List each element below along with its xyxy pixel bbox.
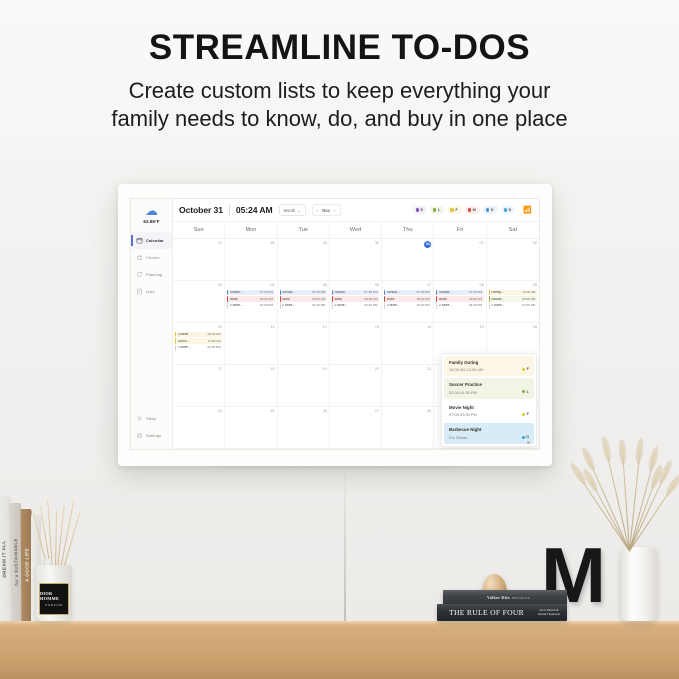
next-month-button[interactable]: ›	[334, 208, 336, 213]
member-color-dot	[450, 208, 453, 211]
event-detail-subtitle: 03:00-04:30 PM	[449, 390, 529, 395]
event-detail-subtitle: 07:00-09:00 PM	[449, 412, 529, 417]
pampas-plume	[635, 437, 645, 464]
calendar-event[interactable]: Family...10:00 AM	[489, 290, 537, 296]
event-time: 07:30 PM	[364, 291, 377, 294]
day-number: 16	[489, 325, 537, 329]
day-number: 25	[227, 409, 274, 413]
day-number: 12	[280, 325, 327, 329]
sidebar-item-planning[interactable]: Planning	[131, 266, 172, 283]
day-number: 17	[175, 367, 222, 371]
pampas-grass	[587, 443, 673, 551]
sidebar-label-calendar: Calendar	[146, 238, 164, 243]
calendar-day-cell[interactable]: 03	[173, 281, 225, 323]
calendar-event[interactable]: School...07:30 PM	[436, 290, 483, 296]
day-number: 20	[332, 367, 379, 371]
day-number: 02	[489, 241, 537, 245]
right-book-stack: Volker KitzBESTSELLER THE RULE OF FOUR I…	[437, 589, 567, 621]
event-title: 2 More...	[282, 304, 295, 307]
event-detail-member-tag: D	[522, 435, 529, 439]
member-chip-l-1[interactable]: L	[430, 206, 444, 214]
calendar-day-cell[interactable]: 30	[330, 239, 382, 281]
calendar-event[interactable]: Work09:00 AM	[384, 296, 431, 302]
member-chip-f-2[interactable]: F	[447, 206, 461, 214]
event-title: 2 More...	[334, 304, 347, 307]
event-time: 12:00 AM	[208, 340, 221, 343]
calendar-event[interactable]: Lunch ...12:00 AM	[175, 338, 222, 344]
member-initial: L	[438, 208, 440, 212]
calendar-app: ☁ 62.96°F Calendar	[131, 199, 539, 449]
calendar-event[interactable]: School...07:30 PM	[280, 290, 327, 296]
diffuser-label: DIOR HOMME PARFUM	[39, 583, 69, 615]
book-top-title: Volker KitzBESTSELLER	[487, 595, 530, 600]
day-number: 01	[436, 241, 483, 245]
day-number: 27	[332, 409, 379, 413]
calendar-day-cell[interactable]: 27	[173, 239, 225, 281]
day-number: 11	[227, 325, 274, 329]
event-time: 04:30 PM	[312, 304, 325, 307]
calendar-icon	[136, 237, 143, 244]
diffuser-brand: DIOR HOMME	[40, 591, 68, 601]
calendar-event[interactable]: 2 More...04:30 PM	[332, 303, 379, 309]
calendar-event[interactable]: 2 More...07:00 PM	[489, 303, 537, 309]
sleep-icon	[136, 415, 143, 422]
calendar-day-cell[interactable]: 31	[382, 239, 434, 281]
event-time: 09:00 AM	[364, 298, 377, 301]
day-number: 28	[384, 409, 431, 413]
book-top-author-name: Volker Kitz	[487, 595, 510, 600]
chevron-down-icon: ⌄	[297, 208, 301, 213]
white-vase	[621, 547, 657, 621]
member-chip-m-3[interactable]: M	[465, 206, 480, 214]
day-number: 27	[175, 241, 222, 245]
diffuser-bottle: DIOR HOMME PARFUM	[36, 565, 72, 621]
calendar-day-cell[interactable]: 17	[173, 365, 225, 407]
calendar-event[interactable]: School...07:30 PM	[384, 290, 431, 296]
current-date: October 31	[179, 205, 223, 215]
planning-icon	[136, 271, 143, 278]
event-time: 04:30 PM	[469, 304, 482, 307]
book-bottom-title: THE RULE OF FOUR	[449, 608, 524, 617]
event-detail-member-tag: F	[522, 367, 529, 371]
calendar-main: October 31 05:24 AM Month ⌄ ‹ Nov › ELFM…	[173, 199, 539, 449]
event-time: 04:30 PM	[364, 304, 377, 307]
event-title: 2 More...	[230, 304, 243, 307]
calendar-day-cell[interactable]: 13	[330, 323, 382, 365]
calendar-day-cell[interactable]: 20	[330, 365, 382, 407]
current-time: 05:24 AM	[236, 205, 273, 215]
event-detail-member-tag: F	[522, 412, 529, 416]
toolbar: October 31 05:24 AM Month ⌄ ‹ Nov › ELFM…	[173, 199, 539, 222]
view-select-label: Month	[284, 208, 296, 213]
event-title: School...	[387, 291, 400, 294]
event-time: 07:30 PM	[312, 291, 325, 294]
pampas-plume	[618, 439, 627, 465]
calendar-event[interactable]: 2 More...03:00 PM	[175, 345, 222, 351]
weekday-wed: Wed	[330, 222, 382, 238]
member-color-dot	[522, 413, 525, 416]
weekday-sun: Sun	[173, 222, 225, 238]
view-select[interactable]: Month ⌄	[279, 204, 306, 216]
event-detail-card[interactable]: Soccer Practice03:00-04:30 PML	[444, 378, 534, 399]
member-color-dot	[504, 208, 507, 211]
promo-subtitle-line1: Create custom lists to keep everything y…	[129, 78, 551, 103]
event-time: 03:00 PM	[207, 346, 220, 349]
calendar-day-cell[interactable]: 05School...07:30 PMWork09:00 AM2 More...…	[278, 281, 330, 323]
calendar-day-cell[interactable]: 08School...07:30 PMWork09:00 AM2 More...…	[434, 281, 486, 323]
weekday-fri: Fri	[434, 222, 486, 238]
book-bottom: THE RULE OF FOUR Ian Caldwell &Dustin Th…	[437, 604, 567, 621]
desk-surface	[0, 621, 679, 679]
weekday-tue: Tue	[278, 222, 330, 238]
event-time: 09:00 AM	[260, 298, 273, 301]
member-initial: F	[527, 367, 529, 371]
day-number: 30	[332, 241, 379, 245]
cloud-icon: ☁	[131, 204, 172, 217]
day-number: 28	[227, 241, 274, 245]
next-month-label: Nov	[322, 208, 330, 213]
day-number: 29	[280, 241, 327, 245]
event-time: 04:30 PM	[417, 304, 430, 307]
day-events: Church09:00 AMLunch ...12:00 AM2 More...…	[175, 329, 222, 351]
member-color-dot	[486, 208, 489, 211]
sidebar-label-chores: Chores	[146, 255, 159, 260]
month-nav: ‹ Nov ›	[312, 204, 341, 216]
day-number: 03	[175, 283, 222, 287]
weekday-sat: Sat	[487, 222, 539, 238]
event-title: Work	[230, 298, 238, 301]
calendar-day-cell[interactable]: 28	[382, 407, 434, 449]
event-detail-panel: Family Outing10:00 AM-12:00 AMFSoccer Pr…	[441, 353, 537, 447]
diffuser-reed	[55, 511, 57, 569]
event-detail-title: Soccer Practice	[449, 382, 529, 387]
gear-icon	[136, 432, 143, 439]
weekday-thu: Thu	[382, 222, 434, 238]
calendar-day-cell[interactable]: 07School...07:30 PMWork09:00 AM2 More...…	[382, 281, 434, 323]
day-number: 18	[227, 367, 274, 371]
calendar-event[interactable]: Work09:00 AM	[280, 296, 327, 302]
member-initial: F	[455, 208, 457, 212]
event-detail-card[interactable]: Family Outing10:00 AM-12:00 AMF	[444, 356, 534, 377]
calendar-event[interactable]: 2 More...04:30 PM	[384, 303, 431, 309]
calendar-event[interactable]: Work09:00 AM	[227, 296, 274, 302]
weekday-mon: Mon	[225, 222, 277, 238]
author-line: Dustin Thomason	[538, 612, 560, 616]
diffuser-sublabel: PARFUM	[45, 603, 62, 607]
sidebar-item-calendar[interactable]: Calendar	[131, 232, 172, 249]
calendar-event[interactable]: Work09:00 AM	[332, 296, 379, 302]
toolbar-divider	[229, 205, 230, 215]
day-number: 21	[384, 367, 431, 371]
event-title: Work	[387, 298, 395, 301]
member-chip-d-5[interactable]: D	[501, 206, 516, 214]
calendar-day-cell[interactable]: 09Family...10:00 AMSoccer...03:00 PM2 Mo…	[487, 281, 539, 323]
calendar-day-cell[interactable]: 11	[225, 323, 277, 365]
event-title: Work	[439, 298, 447, 301]
calendar-event[interactable]: 2 More...04:30 PM	[227, 303, 274, 309]
sidebar-item-settings[interactable]: Settings	[131, 427, 172, 444]
display-screen: ☁ 62.96°F Calendar	[130, 198, 540, 450]
member-color-dot	[522, 368, 525, 371]
sidebar-item-lists[interactable]: Lists	[131, 283, 172, 300]
event-time: 10:00 AM	[522, 291, 535, 294]
member-filter-chips: ELFMDD	[413, 206, 516, 214]
promo-banner: STREAMLINE TO-DOS Create custom lists to…	[0, 0, 679, 160]
calendar-event[interactable]: Work09:00 AM	[436, 296, 483, 302]
sidebar: ☁ 62.96°F Calendar	[131, 199, 173, 449]
event-time: 09:00 AM	[417, 298, 430, 301]
calendar-day-cell[interactable]: 12	[278, 323, 330, 365]
day-number: 13	[332, 325, 379, 329]
event-time: 07:00 PM	[522, 304, 535, 307]
wall-display-frame: ☁ 62.96°F Calendar	[118, 184, 552, 466]
calendar-day-cell[interactable]: 28	[225, 239, 277, 281]
event-title: Family...	[491, 291, 503, 294]
book-top-byline: BESTSELLER	[512, 597, 530, 600]
promo-subtitle: Create custom lists to keep everything y…	[0, 77, 679, 133]
calendar-day-cell[interactable]: 19	[278, 365, 330, 407]
day-number: 24	[175, 409, 222, 413]
calendar-event[interactable]: 2 More...04:30 PM	[280, 303, 327, 309]
event-time: 07:30 PM	[260, 291, 273, 294]
wifi-icon[interactable]: 📶	[523, 207, 532, 214]
calendar-event[interactable]: 2 More...04:30 PM	[436, 303, 483, 309]
sidebar-label-lists: Lists	[146, 289, 155, 294]
member-color-dot	[468, 208, 471, 211]
event-time: 09:00 AM	[312, 298, 325, 301]
member-initial: E	[420, 208, 423, 212]
calendar-day-cell[interactable]: 24	[173, 407, 225, 449]
calendar-day-cell[interactable]: 21	[382, 365, 434, 407]
event-title: Work	[334, 298, 342, 301]
day-number: 15	[436, 325, 483, 329]
book-spine-text: A GOOD LIFE	[24, 548, 29, 582]
sidebar-label-settings: Settings	[146, 433, 161, 438]
member-color-dot	[522, 436, 525, 439]
event-title: 2 More...	[387, 304, 400, 307]
event-time: 03:00 PM	[522, 298, 535, 301]
lists-icon	[136, 288, 143, 295]
sidebar-nav: Calendar Chores	[131, 232, 172, 410]
event-title: School...	[334, 291, 347, 294]
calendar-day-cell[interactable]: 01	[434, 239, 486, 281]
day-events: School...07:30 PMWork09:00 AM2 More...04…	[280, 287, 327, 309]
calendar-day-cell[interactable]: 06School...07:30 PMWork09:00 AM2 More...…	[330, 281, 382, 323]
sidebar-label-planning: Planning	[146, 272, 162, 277]
event-time: 04:30 PM	[260, 304, 273, 307]
event-title: Church	[178, 333, 189, 336]
sidebar-label-sleep: Sleep	[146, 416, 157, 421]
event-title: Work	[282, 298, 290, 301]
day-number: 19	[280, 367, 327, 371]
member-initial: D	[526, 435, 529, 439]
display-indicator-dot	[527, 441, 530, 444]
event-time: 09:00 AM	[469, 298, 482, 301]
promo-subtitle-line2: family needs to know, do, and buy in one…	[111, 106, 567, 131]
calendar-event[interactable]: Soccer...03:00 PM	[489, 296, 537, 302]
member-color-dot	[522, 390, 525, 393]
event-title: School...	[439, 291, 452, 294]
event-detail-subtitle: For Dinner	[449, 435, 529, 440]
event-title: 2 More...	[491, 304, 504, 307]
calendar-day-cell[interactable]: 10Church09:00 AMLunch ...12:00 AM2 More.…	[173, 323, 225, 365]
event-title: Lunch ...	[178, 340, 191, 343]
event-title: School...	[282, 291, 295, 294]
member-initial: M	[473, 208, 476, 212]
member-chip-e-0[interactable]: E	[413, 206, 428, 214]
desk-edge	[0, 621, 679, 625]
day-events: School...07:30 PMWork09:00 AM2 More...04…	[436, 287, 483, 309]
event-detail-member-tag: L	[522, 390, 529, 394]
calendar-day-cell[interactable]: 27	[330, 407, 382, 449]
day-events: School...07:30 PMWork09:00 AM2 More...04…	[332, 287, 379, 309]
event-detail-title: Barbecue Night	[449, 427, 529, 432]
reed-diffuser: DIOR HOMME PARFUM	[30, 501, 76, 621]
member-color-dot	[416, 208, 419, 211]
chores-icon	[136, 254, 143, 261]
event-title: School...	[230, 291, 243, 294]
event-detail-title: Family Outing	[449, 360, 529, 365]
book-top: Volker KitzBESTSELLER	[443, 590, 567, 605]
calendar-event[interactable]: School...07:30 PM	[227, 290, 274, 296]
calendar-day-cell[interactable]: 04School...07:30 PMWork09:00 AM2 More...…	[225, 281, 277, 323]
day-events: School...07:30 PMWork09:00 AM2 More...04…	[227, 287, 274, 309]
event-time: 09:00 AM	[208, 333, 221, 336]
event-detail-subtitle: 10:00 AM-12:00 AM	[449, 367, 529, 372]
calendar-day-cell[interactable]: 29	[278, 239, 330, 281]
book-spine-text: for a SUSTAINABLE	[13, 538, 19, 586]
day-number: 14	[384, 325, 431, 329]
event-detail-title: Movie Night	[449, 405, 529, 410]
event-title: 2 More...	[439, 304, 452, 307]
event-detail-card[interactable]: Barbecue NightFor DinnerD	[444, 423, 534, 444]
member-initial: L	[527, 390, 529, 394]
day-number: 26	[280, 409, 327, 413]
event-time: 07:30 PM	[469, 291, 482, 294]
page-title: STREAMLINE TO-DOS	[0, 30, 679, 67]
today-date-badge: 31	[424, 241, 431, 248]
pampas-plume	[600, 435, 613, 462]
calendar-day-cell[interactable]: 18	[225, 365, 277, 407]
weather-widget[interactable]: ☁ 62.96°F	[131, 199, 172, 228]
member-color-dot	[433, 208, 436, 211]
event-detail-card[interactable]: Movie Night07:00-09:00 PMF	[444, 401, 534, 422]
prev-month-button[interactable]: ‹	[317, 208, 319, 213]
room-scene: ☁ 62.96°F Calendar	[0, 160, 679, 679]
event-title: Soccer...	[491, 298, 504, 301]
day-events: Family...10:00 AMSoccer...03:00 PM2 More…	[489, 287, 537, 309]
calendar-event[interactable]: Church09:00 AM	[175, 332, 222, 338]
weekday-header: SunMonTueWedThuFriSat	[173, 222, 539, 239]
calendar-day-cell[interactable]: 26	[278, 407, 330, 449]
member-initial: F	[527, 412, 529, 416]
member-initial: D	[491, 208, 494, 212]
weather-temperature: 62.96°F	[131, 219, 172, 224]
calendar-day-cell[interactable]: 14	[382, 323, 434, 365]
sidebar-nav-bottom: Sleep Settings	[131, 410, 172, 444]
member-chip-d-4[interactable]: D	[483, 206, 498, 214]
calendar-day-cell[interactable]: 25	[225, 407, 277, 449]
calendar-event[interactable]: School...07:30 PM	[332, 290, 379, 296]
day-events: School...07:30 PMWork09:00 AM2 More...04…	[384, 287, 431, 309]
sidebar-item-chores[interactable]: Chores	[131, 249, 172, 266]
sidebar-item-sleep[interactable]: Sleep	[131, 410, 172, 427]
event-title: 2 More...	[178, 346, 191, 349]
calendar-day-cell[interactable]: 02	[487, 239, 539, 281]
member-initial: D	[509, 208, 512, 212]
book-spine-text: DREAM IT ALL	[1, 540, 7, 577]
book-bottom-authors: Ian Caldwell &Dustin Thomason	[538, 609, 560, 617]
event-time: 07:30 PM	[417, 291, 430, 294]
